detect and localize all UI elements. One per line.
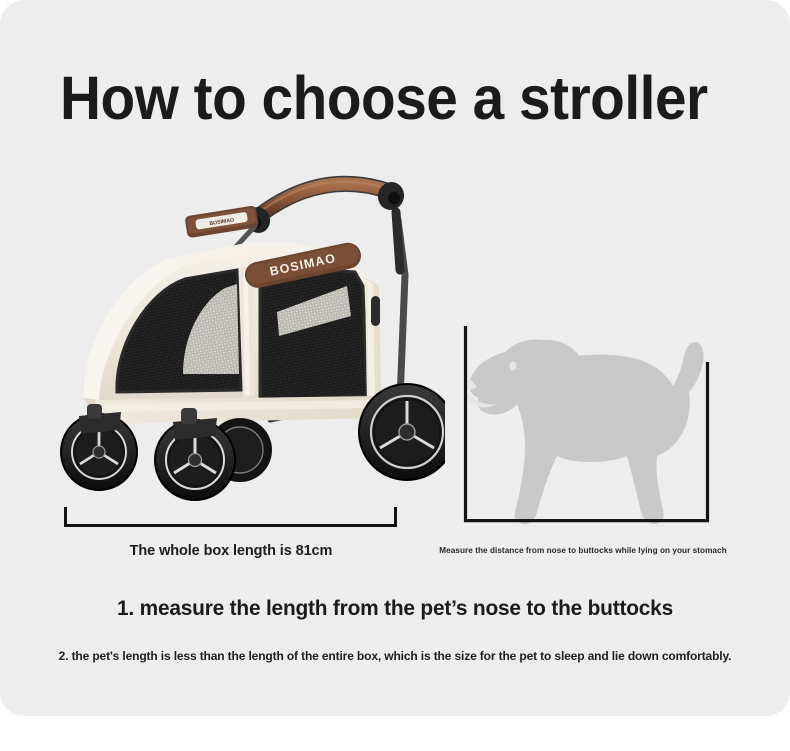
page-root: How to choose a stroller <box>0 0 790 751</box>
box-length-bracket <box>64 505 397 527</box>
bracket-bar <box>64 524 397 527</box>
stroller-illustration: BOSIMAO BOSIMAO <box>55 160 445 505</box>
info-card: How to choose a stroller <box>0 0 790 716</box>
bracket-tick-right <box>394 507 397 527</box>
dog-measure-caption: Measure the distance from nose to buttoc… <box>433 546 733 555</box>
wheel-rear-right <box>359 384 445 480</box>
instruction-step-2: 2. the pet's length is less than the len… <box>12 649 778 663</box>
box-length-caption: The whole box length is 81cm <box>66 543 396 559</box>
dog-measure-diagram <box>445 300 735 540</box>
stroller-svg: BOSIMAO BOSIMAO <box>55 160 445 505</box>
dog-svg <box>445 300 735 540</box>
instruction-step-1: 1. measure the length from the pet’s nos… <box>12 596 778 621</box>
page-title: How to choose a stroller <box>60 66 708 130</box>
dog-silhouette <box>469 340 703 525</box>
